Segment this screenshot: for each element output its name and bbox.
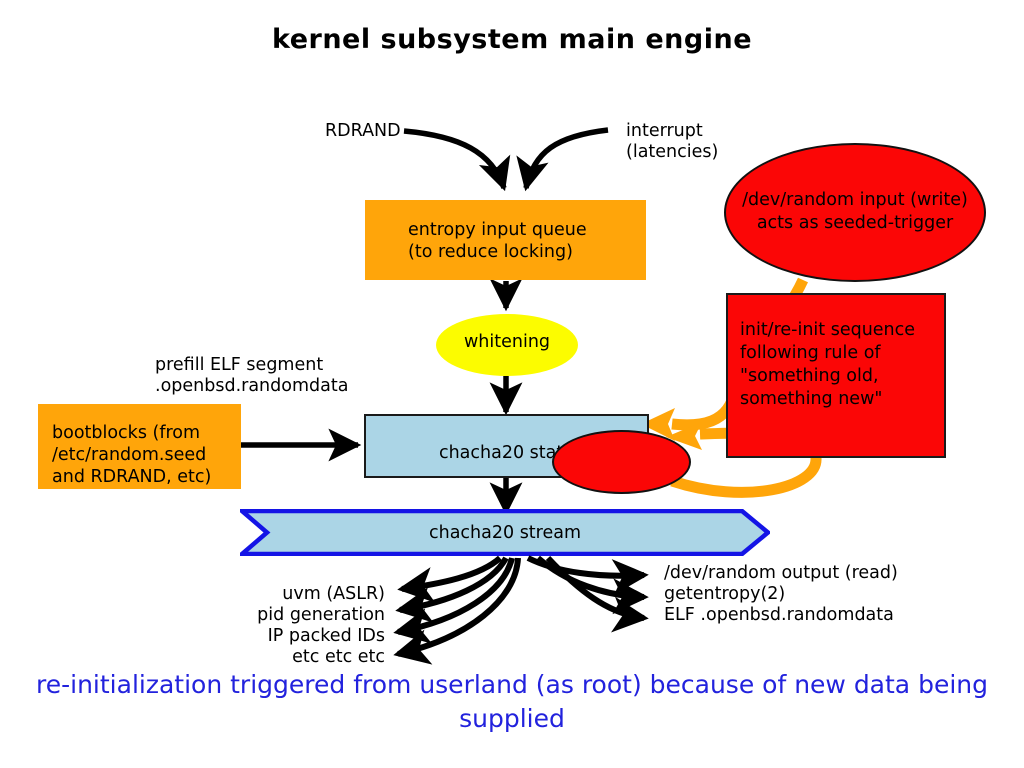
bootblocks-label: bootblocks (from /etc/random.seed and RD…: [52, 422, 211, 488]
chacha20-stream-label: chacha20 stream: [240, 523, 770, 543]
prefill-label: prefill ELF segment .openbsd.randomdata: [155, 355, 348, 397]
whitening-label: whitening: [436, 332, 578, 352]
dev-random-input-ellipse[interactable]: /dev/random input (write) acts as seeded…: [724, 143, 986, 282]
init-sequence-label: init/re-init sequence following rule of …: [740, 319, 915, 411]
entropy-input-queue-box[interactable]: entropy input queue (to reduce locking): [365, 200, 646, 280]
bootblocks-box[interactable]: bootblocks (from /etc/random.seed and RD…: [38, 404, 241, 489]
interrupt-label: interrupt (latencies): [626, 121, 718, 163]
left-outputs-label: uvm (ASLR) pid generation IP packed IDs …: [240, 584, 385, 668]
page-title: kernel subsystem main engine: [0, 24, 1024, 55]
dev-random-input-label: /dev/random input (write) acts as seeded…: [726, 189, 984, 235]
edge-out-devrandom: [528, 558, 644, 576]
edge-out-pid: [400, 558, 506, 610]
reseed-ellipse[interactable]: [552, 430, 691, 494]
edge-interrupt-to-queue: [526, 130, 608, 188]
whitening-ellipse[interactable]: whitening: [436, 314, 578, 376]
init-sequence-box[interactable]: init/re-init sequence following rule of …: [726, 293, 946, 458]
edge-out-getentropy: [538, 558, 644, 597]
rdrand-label: RDRAND: [325, 121, 401, 142]
edge-rdrand-to-queue: [404, 131, 504, 188]
edge-out-elf: [548, 558, 644, 618]
bottom-caption: re-initialization triggered from userlan…: [0, 668, 1024, 736]
right-outputs-label: /dev/random output (read) getentropy(2) …: [664, 563, 898, 626]
diagram-canvas: kernel subsystem main engine: [0, 0, 1024, 768]
edge-out-ipid: [398, 558, 512, 632]
edge-out-etc: [398, 558, 518, 654]
chacha20-stream-banner[interactable]: chacha20 stream: [240, 509, 770, 556]
entropy-input-queue-label: entropy input queue (to reduce locking): [408, 219, 587, 263]
edge-out-uvm: [402, 558, 500, 589]
